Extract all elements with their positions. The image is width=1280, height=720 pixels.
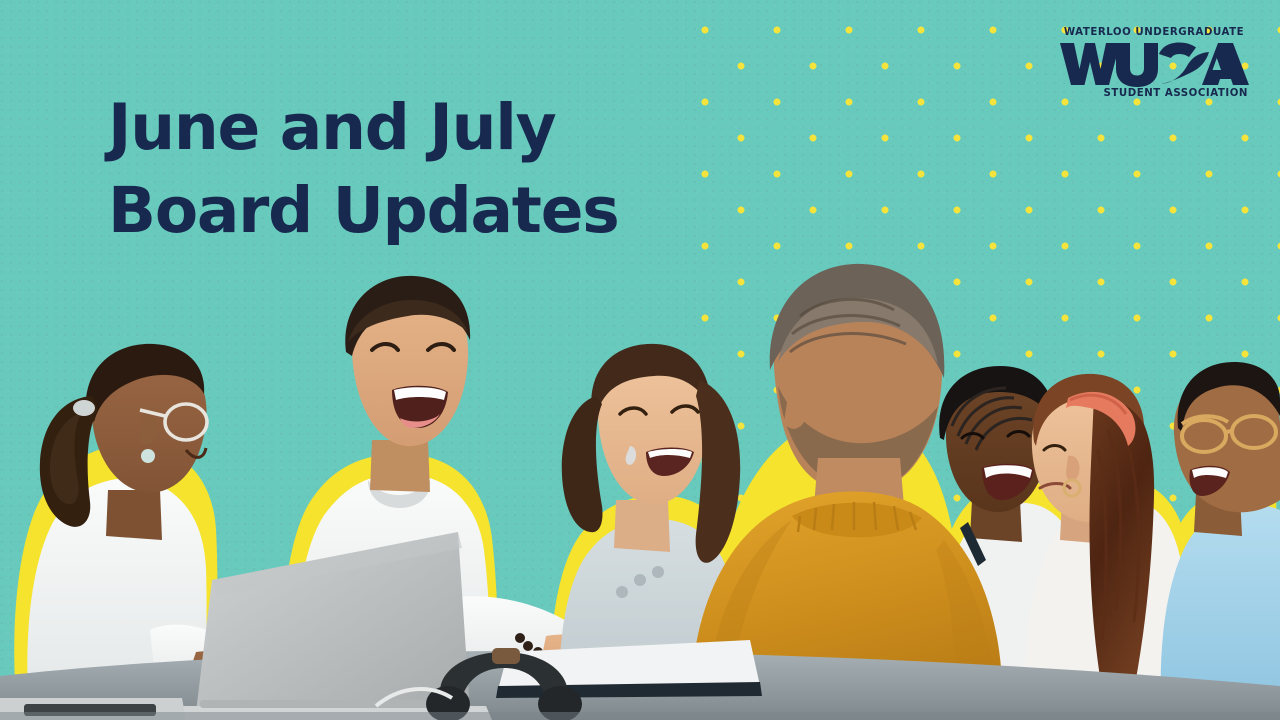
logo-tagline-bottom: STUDENT ASSOCIATION <box>1058 89 1250 99</box>
title-line-1: June and July <box>108 86 748 169</box>
banner-root: June and July Board Updates WATERLOO UND… <box>0 0 1280 720</box>
wusa-logo: WATERLOO UNDERGRADUATE STUDENT ASSOCIATI… <box>1058 28 1250 99</box>
page-title: June and July Board Updates <box>108 86 748 252</box>
wusa-wordmark-icon <box>1058 40 1250 88</box>
logo-tagline-top: WATERLOO UNDERGRADUATE <box>1058 28 1250 38</box>
students-photo <box>0 200 1280 720</box>
title-line-2: Board Updates <box>108 169 748 252</box>
